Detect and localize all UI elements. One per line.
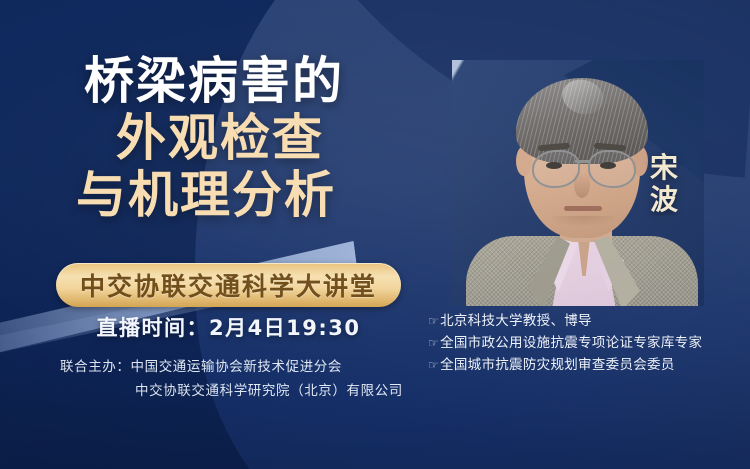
webinar-poster: 桥梁病害的 外观检查 与机理分析 中交协联交通科学大讲堂 直播时间：2月4日19… xyxy=(0,0,750,469)
poster-vignette xyxy=(0,0,750,469)
